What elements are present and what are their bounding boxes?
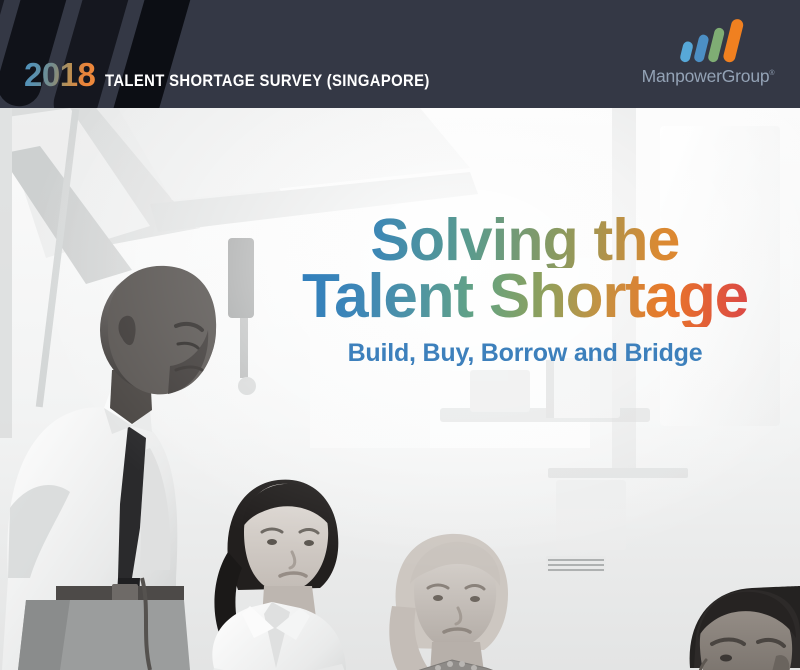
wordmark-text: ManpowerGroup (642, 66, 770, 86)
survey-year: 2018 (24, 58, 95, 91)
page-header: 2018 TALENT SHORTAGE SURVEY (SINGAPORE) … (0, 0, 800, 108)
cover-photo (0, 108, 800, 670)
trademark-symbol: ® (769, 70, 774, 77)
cover-page: 2018 TALENT SHORTAGE SURVEY (SINGAPORE) … (0, 0, 800, 670)
header-title-group: 2018 TALENT SHORTAGE SURVEY (SINGAPORE) (24, 58, 466, 91)
logo-bar-1 (679, 40, 694, 63)
cover-photo-illustration (0, 108, 800, 670)
manpowergroup-logo[interactable]: ManpowerGroup® (638, 18, 778, 92)
survey-title: TALENT SHORTAGE SURVEY (SINGAPORE) (105, 72, 430, 91)
logo-bar-4 (722, 18, 744, 64)
decorative-bar-4 (104, 0, 205, 108)
logo-bar-2 (693, 34, 709, 64)
decorative-bar-1 (0, 0, 19, 90)
manpowergroup-logo-mark-icon (673, 18, 743, 62)
manpowergroup-wordmark: ManpowerGroup® (638, 66, 778, 87)
